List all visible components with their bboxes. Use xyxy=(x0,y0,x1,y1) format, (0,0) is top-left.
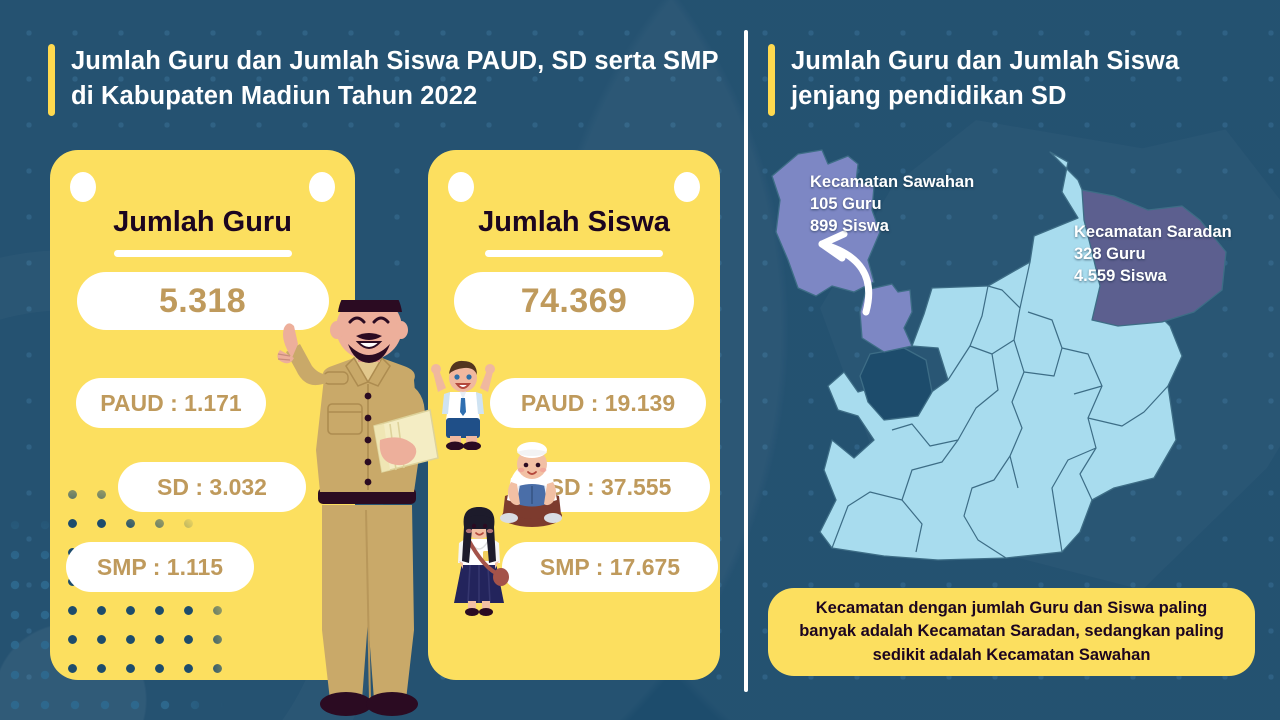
punch-hole-right-icon xyxy=(309,172,335,202)
card-siswa-underline xyxy=(485,250,663,257)
left-panel-title: Jumlah Guru dan Jumlah Siswa PAUD, SD se… xyxy=(48,44,728,116)
card-siswa-total: 74.369 xyxy=(454,272,694,330)
title-accent-bar-left xyxy=(48,44,55,116)
map-summary-callout: Kecamatan dengan jumlah Guru dan Siswa p… xyxy=(768,588,1255,676)
card-guru-item-paud: PAUD : 1.171 xyxy=(76,378,266,428)
title-accent-bar-right xyxy=(768,44,775,116)
punch-hole-left-icon xyxy=(448,172,474,202)
card-siswa-heading: Jumlah Siswa xyxy=(428,206,720,239)
card-siswa-item-smp: SMP : 17.675 xyxy=(502,542,718,592)
right-panel-title: Jumlah Guru dan Jumlah Siswa jenjang pen… xyxy=(768,44,1238,116)
right-title-text: Jumlah Guru dan Jumlah Siswa jenjang pen… xyxy=(791,44,1238,113)
map-label-saradan: Kecamatan Saradan 328 Guru 4.559 Siswa xyxy=(1074,222,1232,288)
card-siswa-item-paud: PAUD : 19.139 xyxy=(490,378,706,428)
panel-divider xyxy=(744,30,748,692)
infographic-canvas: Jumlah Guru dan Jumlah Siswa PAUD, SD se… xyxy=(0,0,1280,720)
punch-hole-left-icon xyxy=(70,172,96,202)
student-girl-illustration xyxy=(448,505,510,617)
punch-hole-right-icon xyxy=(674,172,700,202)
left-title-text: Jumlah Guru dan Jumlah Siswa PAUD, SD se… xyxy=(71,44,728,113)
map-label-sawahan: Kecamatan Sawahan 105 Guru 899 Siswa xyxy=(810,172,974,238)
card-guru-underline xyxy=(114,250,292,257)
card-guru-heading: Jumlah Guru xyxy=(50,206,355,239)
card-guru-item-smp: SMP : 1.115 xyxy=(66,542,254,592)
student-cheering-illustration xyxy=(430,358,496,450)
